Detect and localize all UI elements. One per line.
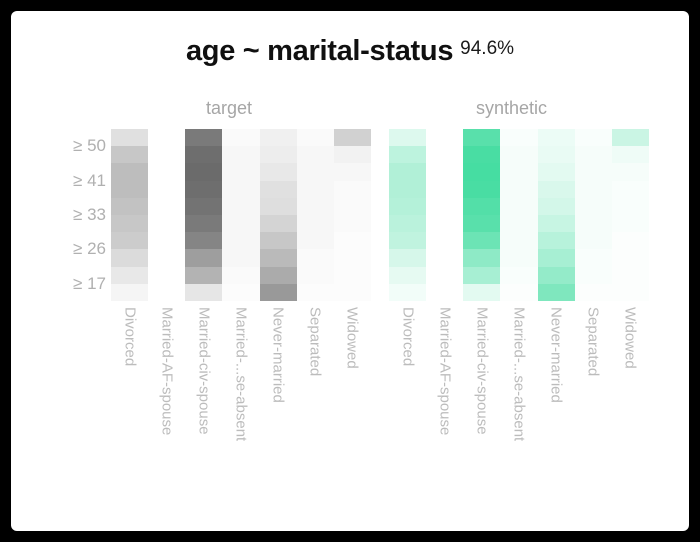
heatmap-cell	[334, 267, 371, 284]
heatmap-cell	[575, 198, 612, 215]
heatmap-cell	[500, 198, 537, 215]
x-tick-label: Never-married	[548, 307, 565, 403]
heatmap-cell	[334, 215, 371, 232]
x-tick-slot: Married-AF-spouse	[148, 307, 185, 507]
x-tick-label: Divorced	[121, 307, 138, 366]
x-tick-label: Married-civ-spouse	[195, 307, 212, 435]
heatmap-cell	[575, 129, 612, 146]
heatmap-cell	[612, 163, 649, 180]
heatmap-cell	[334, 146, 371, 163]
heatmap-cell	[538, 129, 575, 146]
x-tick-slot: Divorced	[111, 307, 148, 507]
x-tick-label: Never-married	[270, 307, 287, 403]
heatmap-cell	[222, 249, 259, 266]
heatmap-cell	[426, 215, 463, 232]
heatmap-cell	[575, 249, 612, 266]
heatmap-column	[297, 129, 334, 301]
heatmap-cell	[500, 232, 537, 249]
heatmap-cell	[389, 215, 426, 232]
heatmap-cell	[575, 146, 612, 163]
heatmap-column	[260, 129, 297, 301]
x-tick-label: Widowed	[622, 307, 639, 369]
x-tick-slot: Widowed	[612, 307, 649, 507]
heatmap-cell	[260, 181, 297, 198]
heatmap-column	[575, 129, 612, 301]
heatmap-cell	[538, 284, 575, 301]
heatmap-cell	[111, 181, 148, 198]
heatmap-cell	[426, 232, 463, 249]
heatmap-cell	[297, 163, 334, 180]
heatmap-cell	[334, 198, 371, 215]
heatmap-cell	[222, 146, 259, 163]
heatmap-cell	[185, 146, 222, 163]
heatmap-column	[612, 129, 649, 301]
heatmap-cell	[334, 163, 371, 180]
heatmap-cell	[222, 181, 259, 198]
heatmap-cell	[575, 267, 612, 284]
heatmap-cell	[297, 284, 334, 301]
heatmap-cell	[463, 267, 500, 284]
heatmap-column	[185, 129, 222, 301]
heatmap-cell	[260, 129, 297, 146]
heatmap-cell	[463, 163, 500, 180]
heatmap-cell	[334, 284, 371, 301]
heatmap-cell	[297, 215, 334, 232]
heatmap-cell	[463, 249, 500, 266]
heatmap-cell	[185, 181, 222, 198]
heatmap-cell	[575, 232, 612, 249]
heatmap-cell	[297, 181, 334, 198]
x-tick-label: Married-...se-absent	[510, 307, 527, 441]
heatmap-cell	[185, 284, 222, 301]
heatmap-cell	[500, 249, 537, 266]
heatmap-column	[148, 129, 185, 301]
heatmap-cell	[148, 215, 185, 232]
heatmap-column	[500, 129, 537, 301]
x-tick-slot: Married-civ-spouse	[185, 307, 222, 507]
accuracy-badge: 94.6%	[460, 38, 514, 59]
heatmap-cell	[297, 267, 334, 284]
heatmap-cell	[612, 249, 649, 266]
y-tick-label: ≥ 41	[73, 171, 106, 191]
heatmap-cell	[297, 249, 334, 266]
heatmap-cell	[222, 284, 259, 301]
heatmap-cell	[612, 284, 649, 301]
heatmap-cell	[500, 181, 537, 198]
x-tick-label: Separated	[585, 307, 602, 376]
heatmap-cell	[111, 129, 148, 146]
x-tick-slot: Married-civ-spouse	[463, 307, 500, 507]
heatmap-target	[111, 129, 371, 301]
heatmap-cell	[426, 181, 463, 198]
heatmap-cell	[612, 198, 649, 215]
heatmap-cell	[389, 284, 426, 301]
heatmap-cell	[297, 129, 334, 146]
heatmap-cell	[334, 232, 371, 249]
heatmap-cell	[148, 181, 185, 198]
heatmap-cell	[111, 284, 148, 301]
heatmap-cell	[111, 198, 148, 215]
heatmap-cell	[260, 267, 297, 284]
heatmap-cell	[389, 267, 426, 284]
heatmap-cell	[463, 146, 500, 163]
heatmap-cell	[463, 181, 500, 198]
heatmap-cell	[185, 163, 222, 180]
heatmap-cell	[185, 232, 222, 249]
heatmap-cell	[426, 129, 463, 146]
heatmap-cell	[334, 181, 371, 198]
page-title: age ~ marital-status94.6%	[11, 35, 689, 68]
heatmap-synthetic	[389, 129, 649, 301]
panel-label-target: target	[206, 98, 252, 119]
heatmap-cell	[222, 198, 259, 215]
heatmap-cell	[389, 181, 426, 198]
heatmap-cell	[575, 215, 612, 232]
heatmap-cell	[463, 198, 500, 215]
heatmap-cell	[185, 267, 222, 284]
heatmap-cell	[389, 198, 426, 215]
x-tick-label: Divorced	[399, 307, 416, 366]
heatmap-cell	[389, 163, 426, 180]
heatmap-cell	[538, 249, 575, 266]
heatmap-cell	[148, 163, 185, 180]
x-tick-label: Separated	[307, 307, 324, 376]
heatmap-column	[389, 129, 426, 301]
x-tick-label: Married-...se-absent	[232, 307, 249, 441]
heatmap-cell	[260, 249, 297, 266]
heatmap-cell	[426, 267, 463, 284]
heatmap-cell	[148, 198, 185, 215]
x-tick-slot: Never-married	[260, 307, 297, 507]
heatmap-cell	[111, 146, 148, 163]
x-tick-label: Married-AF-spouse	[436, 307, 453, 435]
x-axis-labels-synthetic: DivorcedMarried-AF-spouseMarried-civ-spo…	[389, 307, 649, 507]
heatmap-cell	[500, 215, 537, 232]
heatmap-cell	[260, 215, 297, 232]
heatmap-cell	[463, 284, 500, 301]
heatmap-cell	[148, 146, 185, 163]
x-tick-slot: Divorced	[389, 307, 426, 507]
y-tick-label: ≥ 17	[73, 274, 106, 294]
heatmap-cell	[389, 129, 426, 146]
heatmap-cell	[185, 249, 222, 266]
heatmap-cell	[426, 163, 463, 180]
x-tick-label: Widowed	[344, 307, 361, 369]
heatmap-cell	[500, 267, 537, 284]
heatmap-column	[111, 129, 148, 301]
heatmap-cell	[297, 198, 334, 215]
heatmap-cell	[500, 284, 537, 301]
heatmap-cell	[500, 129, 537, 146]
x-tick-slot: Married-...se-absent	[500, 307, 537, 507]
heatmap-cell	[260, 284, 297, 301]
heatmap-cell	[148, 249, 185, 266]
heatmap-cell	[111, 232, 148, 249]
y-tick-label: ≥ 26	[73, 239, 106, 259]
heatmap-column	[463, 129, 500, 301]
heatmap-column	[538, 129, 575, 301]
heatmap-cell	[426, 198, 463, 215]
heatmap-cell	[612, 146, 649, 163]
heatmap-cell	[148, 284, 185, 301]
heatmap-cell	[612, 181, 649, 198]
heatmap-cell	[389, 232, 426, 249]
y-tick-label: ≥ 33	[73, 205, 106, 225]
heatmap-cell	[334, 249, 371, 266]
x-tick-label: Married-civ-spouse	[473, 307, 490, 435]
heatmap-cell	[148, 129, 185, 146]
heatmap-column	[222, 129, 259, 301]
heatmap-cell	[500, 146, 537, 163]
heatmap-cell	[111, 215, 148, 232]
heatmap-cell	[111, 163, 148, 180]
heatmap-cell	[463, 129, 500, 146]
heatmap-cell	[222, 129, 259, 146]
y-axis-labels: ≥ 50≥ 41≥ 33≥ 26≥ 17	[44, 129, 106, 301]
heatmap-cell	[538, 267, 575, 284]
heatmap-cell	[538, 198, 575, 215]
heatmap-cell	[463, 232, 500, 249]
heatmap-cell	[575, 181, 612, 198]
heatmap-cell	[538, 232, 575, 249]
heatmap-cell	[260, 198, 297, 215]
heatmap-cell	[185, 129, 222, 146]
heatmap-cell	[260, 146, 297, 163]
x-tick-label: Married-AF-spouse	[158, 307, 175, 435]
heatmap-column	[426, 129, 463, 301]
heatmap-cell	[148, 232, 185, 249]
heatmap-cell	[297, 232, 334, 249]
heatmap-cell	[389, 146, 426, 163]
heatmap-cell	[575, 284, 612, 301]
heatmap-cell	[334, 129, 371, 146]
heatmap-cell	[185, 198, 222, 215]
heatmap-cell	[612, 215, 649, 232]
heatmap-cell	[612, 232, 649, 249]
heatmap-cell	[426, 249, 463, 266]
x-tick-slot: Widowed	[334, 307, 371, 507]
x-tick-slot: Married-AF-spouse	[426, 307, 463, 507]
heatmap-cell	[222, 232, 259, 249]
heatmap-cell	[612, 267, 649, 284]
x-tick-slot: Never-married	[538, 307, 575, 507]
x-tick-slot: Married-...se-absent	[222, 307, 259, 507]
chart-card: age ~ marital-status94.6% target synthet…	[11, 11, 689, 531]
heatmap-cell	[426, 146, 463, 163]
heatmap-cell	[111, 249, 148, 266]
heatmap-cell	[538, 146, 575, 163]
heatmap-cell	[612, 129, 649, 146]
heatmap-cell	[389, 249, 426, 266]
heatmap-cell	[222, 267, 259, 284]
x-tick-slot: Separated	[575, 307, 612, 507]
heatmap-cell	[222, 163, 259, 180]
panel-label-synthetic: synthetic	[476, 98, 547, 119]
heatmap-cell	[463, 215, 500, 232]
heatmap-cell	[538, 215, 575, 232]
x-axis-labels-target: DivorcedMarried-AF-spouseMarried-civ-spo…	[111, 307, 371, 507]
heatmap-cell	[297, 146, 334, 163]
heatmap-cell	[111, 267, 148, 284]
heatmap-cell	[575, 163, 612, 180]
heatmap-cell	[260, 163, 297, 180]
heatmap-column	[334, 129, 371, 301]
heatmap-cell	[426, 284, 463, 301]
heatmap-cell	[185, 215, 222, 232]
heatmap-cell	[538, 181, 575, 198]
heatmap-cell	[538, 163, 575, 180]
heatmap-cell	[500, 163, 537, 180]
heatmap-cell	[148, 267, 185, 284]
title-text: age ~ marital-status	[186, 35, 453, 67]
heatmap-cell	[260, 232, 297, 249]
y-tick-label: ≥ 50	[73, 136, 106, 156]
heatmap-cell	[222, 215, 259, 232]
x-tick-slot: Separated	[297, 307, 334, 507]
